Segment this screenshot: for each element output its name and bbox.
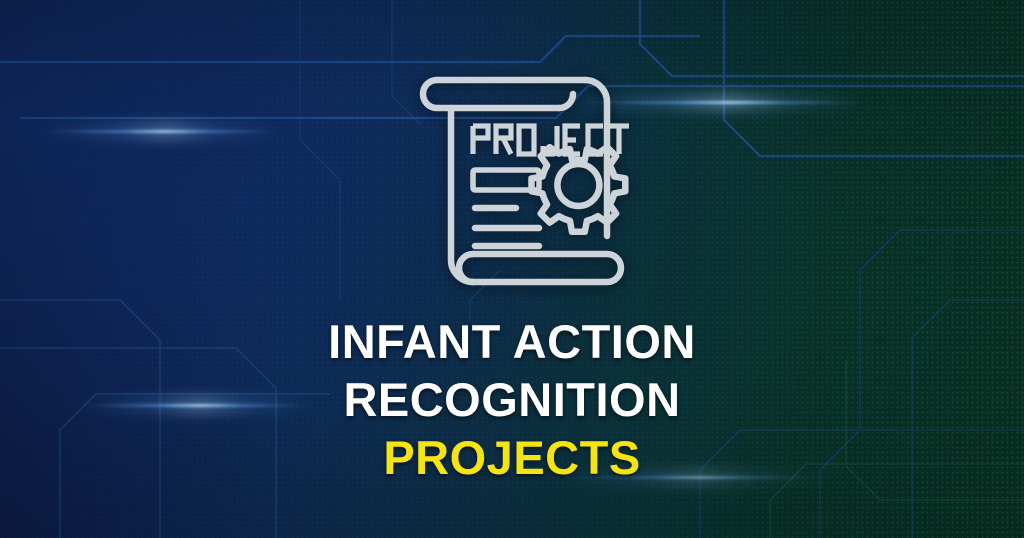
headline-block: INFANT ACTION RECOGNITION PROJECTS [328,318,696,481]
scroll-bottom-curl [473,254,621,282]
headline-line-1: INFANT ACTION [328,318,696,365]
scroll-top-curl [423,80,559,108]
gear-hub [557,164,599,206]
scroll-curl-inner [559,94,573,108]
project-scroll-gear-icon [389,58,635,296]
headline-line-2: RECOGNITION [328,376,696,423]
headline-line-3: PROJECTS [328,434,696,481]
document-text-lines [475,208,539,246]
banner-graphic: INFANT ACTION RECOGNITION PROJECTS [0,0,1024,538]
banner-content: INFANT ACTION RECOGNITION PROJECTS [0,0,1024,538]
scroll-bottom-curl-left [459,254,473,282]
gear-icon [532,147,626,232]
